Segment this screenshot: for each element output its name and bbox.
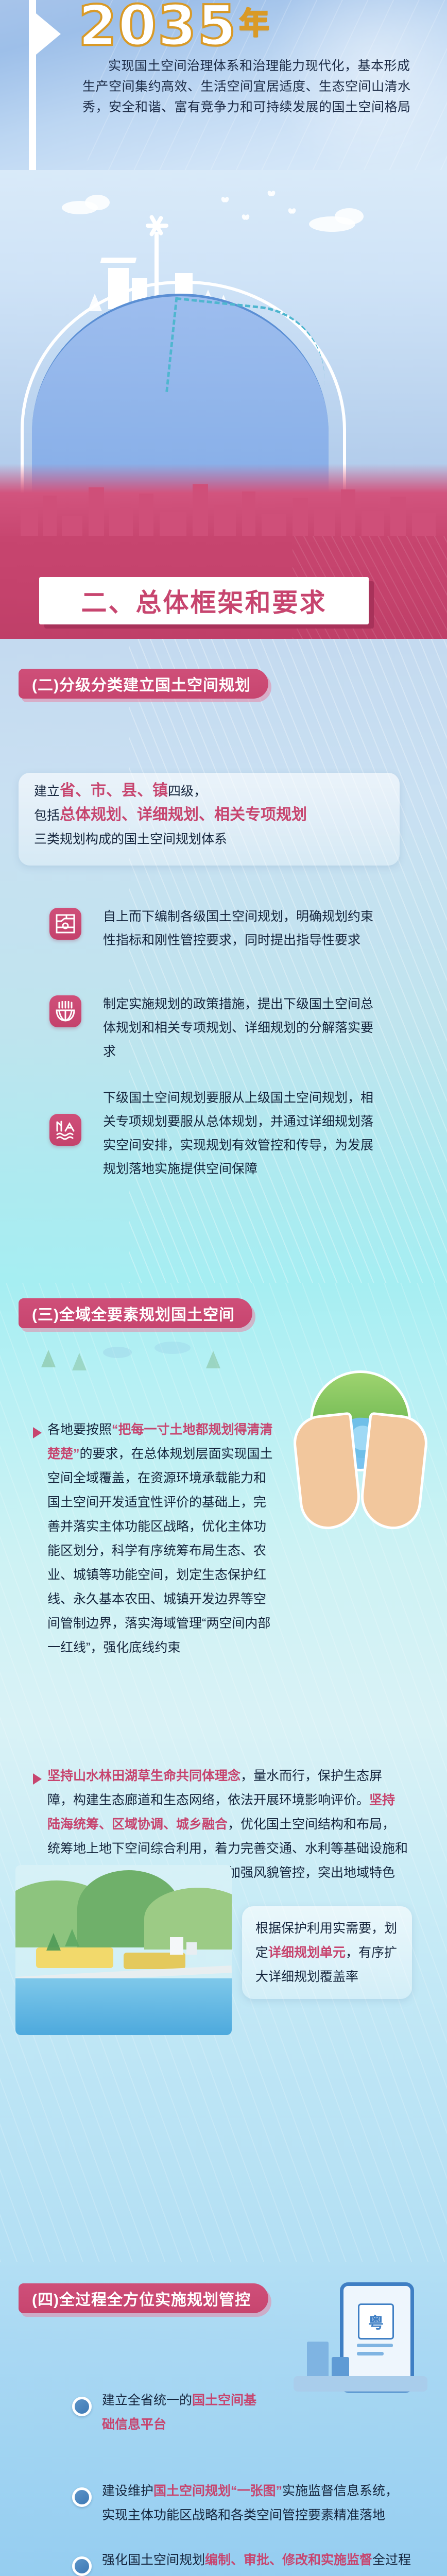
hatch-decoration — [129, 639, 447, 1283]
s4-i2-part-1-highlight: 国土空间规划“一张图” — [153, 2484, 282, 2498]
butterfly-icon — [221, 197, 229, 203]
cloud-icon — [85, 195, 110, 210]
s4-i3-part-1-highlight: 编制、审批、修改和实施监督 — [205, 2553, 372, 2567]
map-grid-icon — [49, 908, 81, 940]
city-block-icon — [307, 2342, 329, 2379]
skyline-building — [193, 484, 208, 541]
hero-paragraph: 实现国土空间治理体系和治理能力现代化，基本形成生产空间集约高效、生活空间宜居适度… — [82, 56, 412, 117]
section-four-item-1: 建立全省统一的国土空间基础信息平台 — [102, 2388, 267, 2437]
dot-bullet-icon — [72, 2397, 92, 2416]
doodle-tree-icon — [72, 1353, 87, 1370]
skyline-building — [242, 492, 255, 541]
section-two-band — [0, 639, 447, 1283]
phone-line — [357, 2344, 393, 2347]
card-line1-prefix: 建立 — [34, 784, 60, 799]
s4-i3-part-0: 强化国土空间规划 — [102, 2553, 205, 2567]
dashed-arc-decoration — [165, 297, 332, 409]
section-two-item-1-text: 自上而下编制各级国土空间规划，明确规划约束性指标和刚性管控要求，同时提出指导性要… — [103, 905, 384, 952]
skyline-band — [0, 464, 447, 541]
card-line-3: 三类规划构成的国土空间规划体系 — [34, 827, 389, 851]
butterfly-icon — [242, 214, 249, 221]
card-line-1: 建立省、市、县、镇四级， — [34, 779, 389, 803]
year-title: 2035年 — [78, 0, 270, 58]
village-building — [186, 1942, 197, 1955]
section-two-heading: (二)分级分类建立国土空间规划 — [19, 669, 268, 699]
skyline-building — [390, 497, 406, 541]
water-body — [15, 1978, 232, 2035]
farm-field — [124, 1953, 185, 1969]
p3-part-1-highlight: 详细规划单元 — [268, 1945, 346, 1960]
p2-part-0-highlight: 坚持山水林田湖草生命共同体理念 — [47, 1769, 240, 1783]
skyline-building — [293, 498, 308, 541]
cloud-icon — [335, 208, 364, 225]
hero-band: 2035年 实现国土空间治理体系和治理能力现代化，基本形成生产空间集约高效、生活… — [0, 0, 447, 170]
main-section-title-wrap: 二、总体框架和要求 — [39, 577, 369, 626]
left-palm-icon — [291, 1412, 364, 1532]
p1-part-0: 各地要按照 — [47, 1422, 112, 1437]
card-line2-prefix: 包括 — [34, 808, 60, 823]
roof-icon — [100, 258, 136, 263]
farm-field — [36, 1947, 113, 1968]
butterfly-icon — [288, 208, 296, 214]
section-three-paragraph-3: 根据保护利用实需要，划定详细规划单元，有序扩大详细规划覆盖率 — [255, 1917, 403, 1989]
section-four-heading: (四)全过程全方位实施规划管控 — [19, 2283, 268, 2313]
section-two-item-2-text: 制定实施规划的政策措施，提出下级国土空间总体规划和相关专项规划、详细规划的分解落… — [103, 992, 384, 1063]
village-building — [170, 1937, 183, 1955]
doodle-tree-icon — [206, 1351, 220, 1368]
arrow-head-icon — [36, 13, 61, 55]
year-suffix: 年 — [239, 6, 270, 41]
butterfly-icon — [268, 191, 275, 197]
earth-in-hands-illustration — [288, 1370, 433, 1535]
landscape-illustration — [15, 1865, 232, 2035]
right-palm-icon — [358, 1412, 431, 1532]
city-base-platform — [294, 2376, 427, 2392]
main-section-title: 二、总体框架和要求 — [39, 577, 369, 624]
dot-bullet-icon — [72, 2487, 92, 2507]
card-line1-highlight: 省、市、县、镇 — [60, 782, 168, 799]
infographic-page: 2035年 实现国土空间治理体系和治理能力现代化，基本形成生产空间集约高效、生活… — [0, 0, 447, 2576]
mountain-water-icon — [49, 1114, 81, 1146]
triangle-bullet-icon — [33, 1773, 42, 1785]
p1-part-2: 的要求，在总体规划层面实现国土空间全域覆盖，在资源环境承载能力和国土空间开发适宜… — [47, 1447, 273, 1655]
skyline-building — [341, 489, 355, 541]
section-two-card-text: 建立省、市、县、镇四级， 包括总体规划、详细规划、相关专项规划 三类规划构成的国… — [34, 779, 389, 851]
doodle-cloud-icon — [154, 1342, 191, 1354]
card-line2-highlight: 总体规划、详细规划、相关专项规划 — [60, 806, 307, 823]
year-number: 2035 — [78, 0, 237, 58]
skyline-building — [43, 496, 57, 541]
s4-i2-part-0: 建设维护 — [102, 2484, 153, 2498]
section-three-heading: (三)全域全要素规划国土空间 — [19, 1298, 252, 1328]
skyline-building — [139, 494, 153, 541]
card-line-2: 包括总体规划、详细规划、相关专项规划 — [34, 803, 389, 827]
section-four-item-3: 强化国土空间规划编制、审批、修改和实施监督全过程信息化支撑 — [102, 2548, 421, 2576]
skyline-building — [89, 487, 104, 541]
dot-bullet-icon — [72, 2556, 92, 2576]
arrow-bar-decoration — [29, 0, 36, 170]
s4-i1-part-0: 建立全省统一的 — [102, 2393, 192, 2408]
section-four-item-2: 建设维护国土空间规划“一张图”实施监督信息系统，实现主体功能区战略和各类空间管控… — [102, 2479, 411, 2528]
doodle-tree-icon — [41, 1350, 56, 1367]
card-line1-suffix: 四级， — [168, 784, 207, 799]
tree-icon — [65, 1929, 79, 1946]
globe-rays-icon — [49, 995, 81, 1027]
tree-icon — [46, 1933, 61, 1951]
doodle-cloud-icon — [103, 1347, 132, 1358]
triangle-bullet-icon — [33, 1427, 42, 1438]
section-three-paragraph-1: 各地要按照“把每一寸土地都规划得清清楚楚”的要求，在总体规划层面实现国土空间全域… — [47, 1418, 274, 1660]
section-two-item-3-text: 下级国土空间规划要服从上级国土空间规划，相关专项规划要服从总体规划，并通过详细规… — [103, 1086, 384, 1181]
phone-line — [357, 2352, 384, 2355]
app-badge: 粤 — [358, 2303, 394, 2340]
